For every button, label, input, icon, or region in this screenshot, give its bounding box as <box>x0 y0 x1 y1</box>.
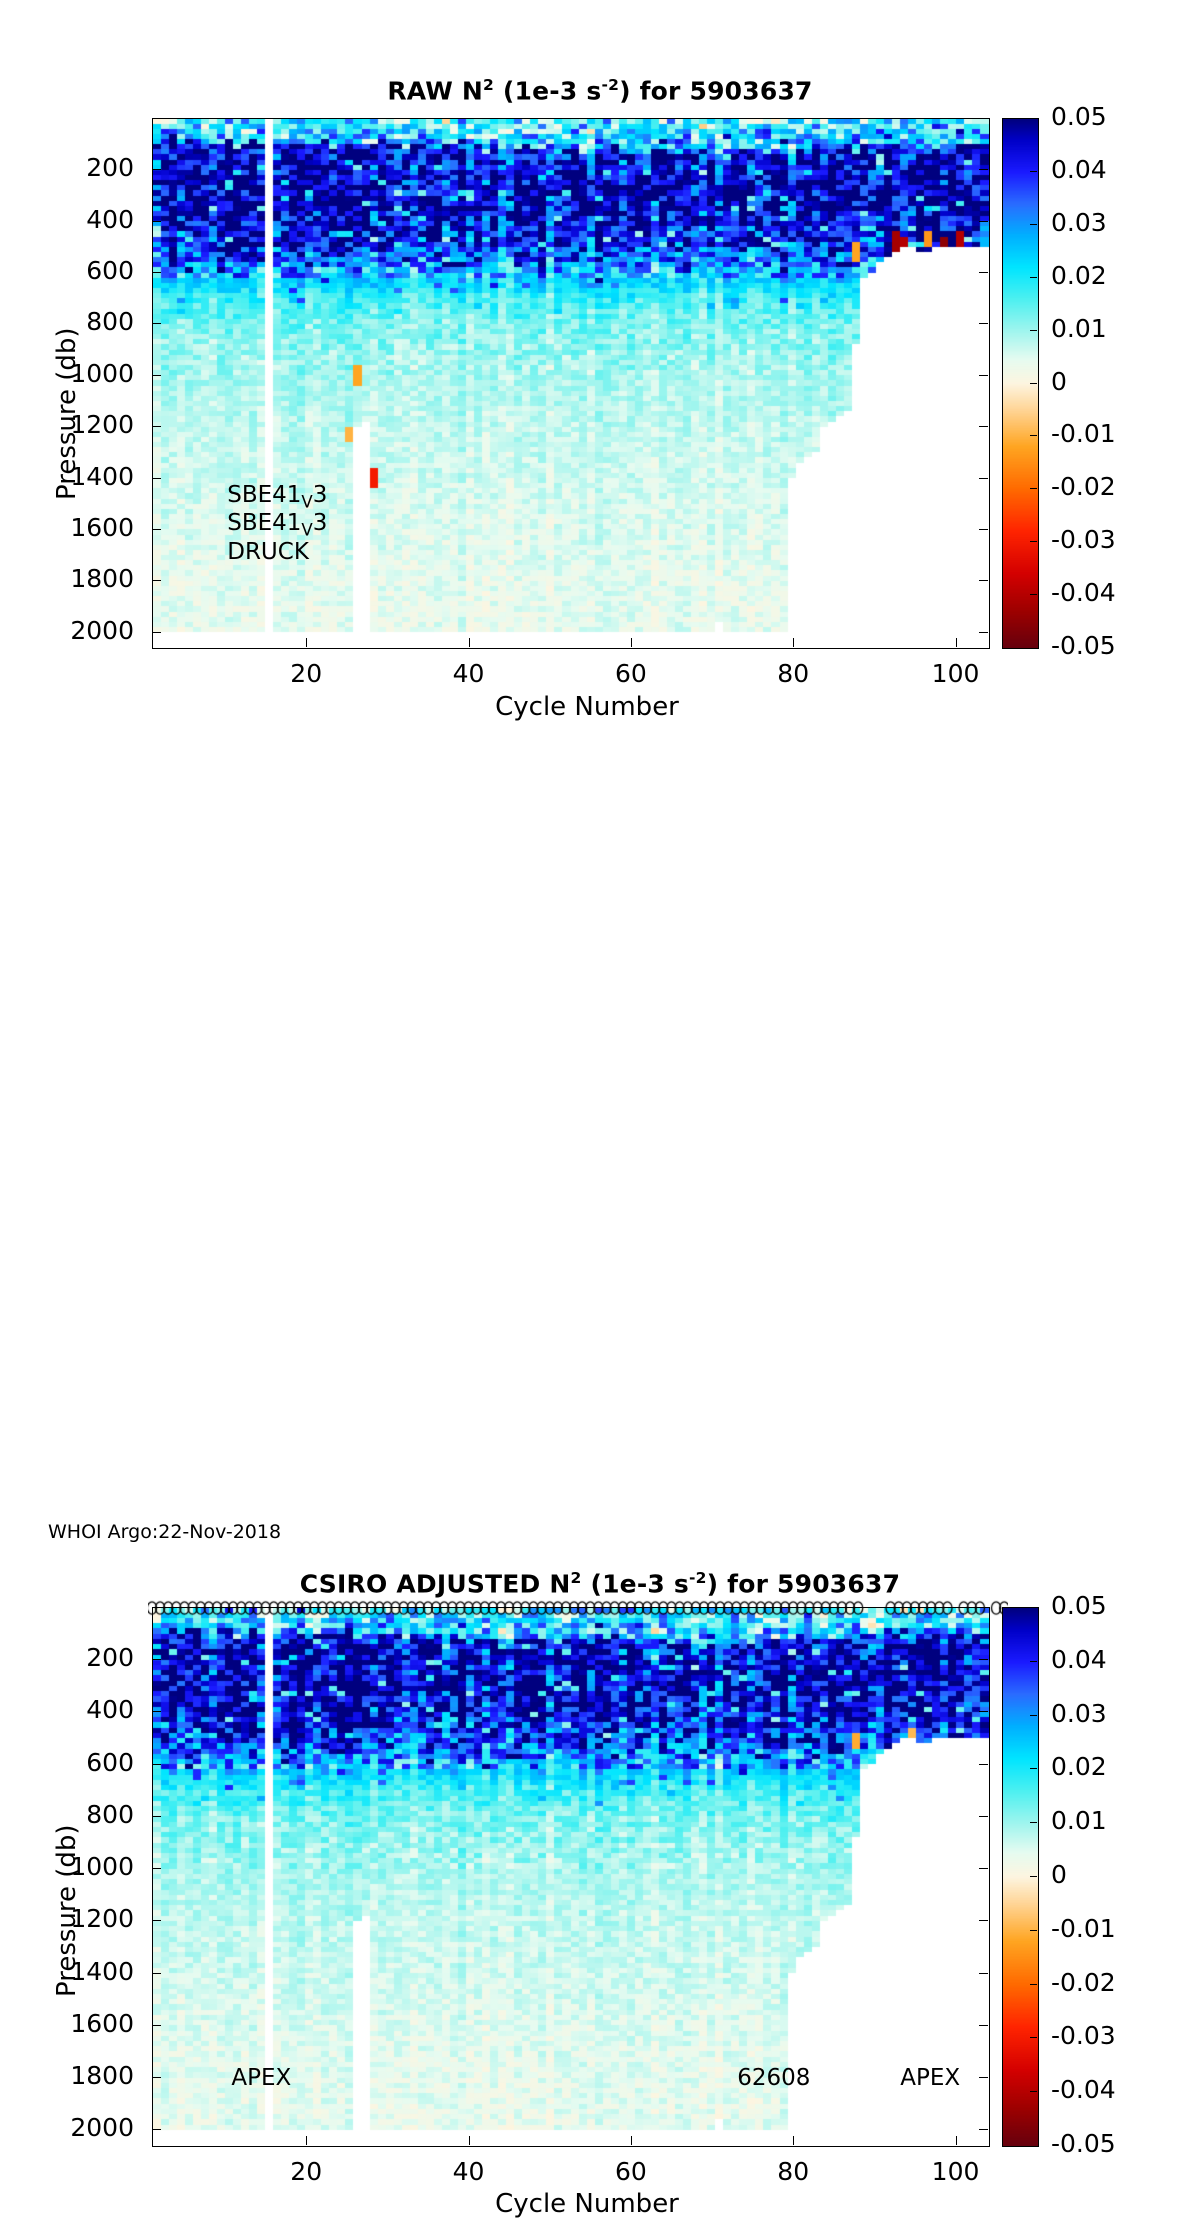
panel-raw-x-axis-label: Cycle Number <box>152 692 1022 722</box>
y-tick-mark <box>152 529 161 530</box>
y-tick-label: 1400 <box>44 1957 134 1986</box>
x-tick-mark <box>306 638 307 647</box>
colorbar-tick-mark <box>1030 541 1037 542</box>
y-tick-mark <box>152 1920 161 1921</box>
y-tick-label: 1800 <box>44 564 134 593</box>
y-tick-mark <box>979 375 988 376</box>
colorbar-tick-mark <box>1030 330 1037 331</box>
x-tick-label: 40 <box>424 659 514 688</box>
y-tick-mark <box>152 1659 161 1660</box>
y-tick-mark <box>979 1659 988 1660</box>
y-tick-label: 400 <box>44 1695 134 1724</box>
y-tick-label: 1600 <box>44 513 134 542</box>
colorbar-tick-label: 0.05 <box>1051 1591 1107 1620</box>
x-tick-label: 20 <box>261 2157 351 2186</box>
y-tick-label: 2000 <box>44 2113 134 2142</box>
colorbar-tick-mark <box>1030 2091 1037 2092</box>
y-tick-mark <box>979 2129 988 2130</box>
colorbar-tick-mark <box>1030 2037 1037 2038</box>
colorbar-tick-mark <box>1030 277 1037 278</box>
colorbar-tick-mark <box>1030 1661 1037 1662</box>
y-tick-mark <box>979 426 988 427</box>
y-tick-mark <box>152 323 161 324</box>
panel-raw: RAW N2 (1e-3 s-2) for 5903637 Pressure (… <box>0 0 1200 760</box>
panel-raw-plot-area[interactable] <box>152 118 990 649</box>
y-tick-mark <box>152 478 161 479</box>
y-tick-mark <box>152 2077 161 2078</box>
colorbar-tick-label: 0.05 <box>1051 102 1107 131</box>
y-tick-label: 1000 <box>44 1852 134 1881</box>
colorbar-tick-mark <box>1030 488 1037 489</box>
float-type-label-right: APEX <box>900 2065 960 2091</box>
y-tick-mark <box>979 1973 988 1974</box>
y-tick-mark <box>979 1868 988 1869</box>
y-tick-mark <box>152 272 161 273</box>
y-tick-label: 1000 <box>44 359 134 388</box>
x-tick-mark <box>631 638 632 647</box>
y-tick-mark <box>152 426 161 427</box>
y-tick-mark <box>152 2129 161 2130</box>
colorbar-tick-label: 0 <box>1051 1860 1067 1889</box>
x-tick-label: 20 <box>261 659 351 688</box>
y-tick-mark <box>152 1816 161 1817</box>
colorbar-tick-mark <box>1030 435 1037 436</box>
x-tick-label: 80 <box>748 2157 838 2186</box>
y-tick-mark <box>152 1973 161 1974</box>
y-tick-mark <box>979 2077 988 2078</box>
colorbar-tick-label: -0.02 <box>1051 1968 1116 1997</box>
colorbar-tick-mark <box>1030 1715 1037 1716</box>
y-tick-mark <box>979 1711 988 1712</box>
panel-adjusted-x-axis-label: Cycle Number <box>152 2189 1022 2219</box>
colorbar-raw <box>1002 118 1039 649</box>
colorbar-tick-label: -0.03 <box>1051 525 1116 554</box>
y-tick-mark <box>152 1711 161 1712</box>
x-tick-mark <box>306 2136 307 2145</box>
y-tick-label: 800 <box>44 307 134 336</box>
colorbar-tick-label: 0 <box>1051 367 1067 396</box>
wmo-label: 62608 <box>737 2065 810 2091</box>
y-tick-mark <box>152 375 161 376</box>
y-tick-mark <box>979 221 988 222</box>
colorbar-tick-label: 0.02 <box>1051 261 1107 290</box>
x-tick-label: 100 <box>911 2157 1001 2186</box>
x-tick-mark <box>469 2136 470 2145</box>
colorbar-tick-mark <box>1030 1822 1037 1823</box>
pressure-sensor-label: DRUCK <box>227 539 309 565</box>
y-tick-mark <box>152 580 161 581</box>
y-tick-mark <box>979 529 988 530</box>
colorbar-tick-label: 0.01 <box>1051 314 1107 343</box>
colorbar-tick-mark <box>1030 383 1037 384</box>
y-tick-label: 800 <box>44 1800 134 1829</box>
x-tick-mark <box>956 2136 957 2145</box>
y-tick-label: 1600 <box>44 2009 134 2038</box>
sensor-label-2: SBE41V3 <box>227 510 327 540</box>
y-tick-label: 2000 <box>44 616 134 645</box>
colorbar-tick-label: -0.04 <box>1051 578 1116 607</box>
colorbar-tick-mark <box>1030 171 1037 172</box>
colorbar-tick-label: 0.02 <box>1051 1752 1107 1781</box>
y-tick-mark <box>979 1764 988 1765</box>
colorbar-tick-label: 0.04 <box>1051 1645 1107 1674</box>
top-marker-circles <box>148 1595 1008 1621</box>
colorbar-tick-label: -0.01 <box>1051 419 1116 448</box>
y-tick-mark <box>979 169 988 170</box>
colorbar-tick-label: -0.05 <box>1051 631 1116 660</box>
panel-raw-title: RAW N2 (1e-3 s-2) for 5903637 <box>0 76 1200 105</box>
heatmap-canvas-raw <box>153 119 989 648</box>
float-type-label-left: APEX <box>231 2065 291 2091</box>
y-tick-label: 1200 <box>44 410 134 439</box>
colorbar-tick-label: 0.03 <box>1051 208 1107 237</box>
y-tick-mark <box>979 478 988 479</box>
y-tick-label: 400 <box>44 205 134 234</box>
y-tick-mark <box>152 2025 161 2026</box>
x-tick-mark <box>793 2136 794 2145</box>
x-tick-label: 60 <box>586 2157 676 2186</box>
y-tick-mark <box>979 580 988 581</box>
colorbar-adjusted <box>1002 1607 1039 2147</box>
y-tick-label: 1200 <box>44 1904 134 1933</box>
y-tick-label: 200 <box>44 1643 134 1672</box>
colorbar-tick-mark <box>1030 1930 1037 1931</box>
colorbar-tick-label: -0.03 <box>1051 2021 1116 2050</box>
colorbar-tick-label: -0.04 <box>1051 2075 1116 2104</box>
panel-adjusted-title: CSIRO ADJUSTED N2 (1e-3 s-2) for 5903637 <box>0 1569 1200 1598</box>
x-tick-label: 60 <box>586 659 676 688</box>
y-tick-mark <box>152 221 161 222</box>
y-tick-mark <box>152 169 161 170</box>
x-tick-mark <box>631 2136 632 2145</box>
y-tick-mark <box>979 1816 988 1817</box>
y-tick-mark <box>979 632 988 633</box>
colorbar-tick-mark <box>1030 594 1037 595</box>
colorbar-tick-label: -0.05 <box>1051 2129 1116 2158</box>
colorbar-tick-label: 0.03 <box>1051 1699 1107 1728</box>
colorbar-tick-mark <box>1030 224 1037 225</box>
colorbar-tick-mark <box>1030 1984 1037 1985</box>
x-tick-mark <box>469 638 470 647</box>
y-tick-label: 1800 <box>44 2061 134 2090</box>
colorbar-tick-label: 0.04 <box>1051 155 1107 184</box>
colorbar-tick-mark <box>1030 1876 1037 1877</box>
colorbar-tick-label: 0.01 <box>1051 1806 1107 1835</box>
x-tick-mark <box>956 638 957 647</box>
x-tick-label: 40 <box>424 2157 514 2186</box>
x-tick-label: 100 <box>911 659 1001 688</box>
sensor-label-1: SBE41V3 <box>227 482 327 512</box>
y-tick-label: 600 <box>44 256 134 285</box>
y-tick-mark <box>152 1764 161 1765</box>
x-tick-mark <box>793 638 794 647</box>
colorbar-tick-mark <box>1030 1768 1037 1769</box>
x-tick-label: 80 <box>748 659 838 688</box>
y-tick-mark <box>979 272 988 273</box>
colorbar-tick-label: -0.01 <box>1051 1914 1116 1943</box>
panel-adjusted: CSIRO ADJUSTED N2 (1e-3 s-2) for 5903637… <box>0 745 1200 1505</box>
y-tick-mark <box>152 1868 161 1869</box>
colorbar-tick-label: -0.02 <box>1051 472 1116 501</box>
footer-credit: WHOI Argo:22-Nov-2018 <box>48 1521 281 1543</box>
y-tick-label: 1400 <box>44 462 134 491</box>
y-tick-mark <box>979 2025 988 2026</box>
y-tick-label: 600 <box>44 1748 134 1777</box>
y-tick-mark <box>152 632 161 633</box>
y-tick-mark <box>979 323 988 324</box>
y-tick-mark <box>979 1920 988 1921</box>
y-tick-label: 200 <box>44 153 134 182</box>
